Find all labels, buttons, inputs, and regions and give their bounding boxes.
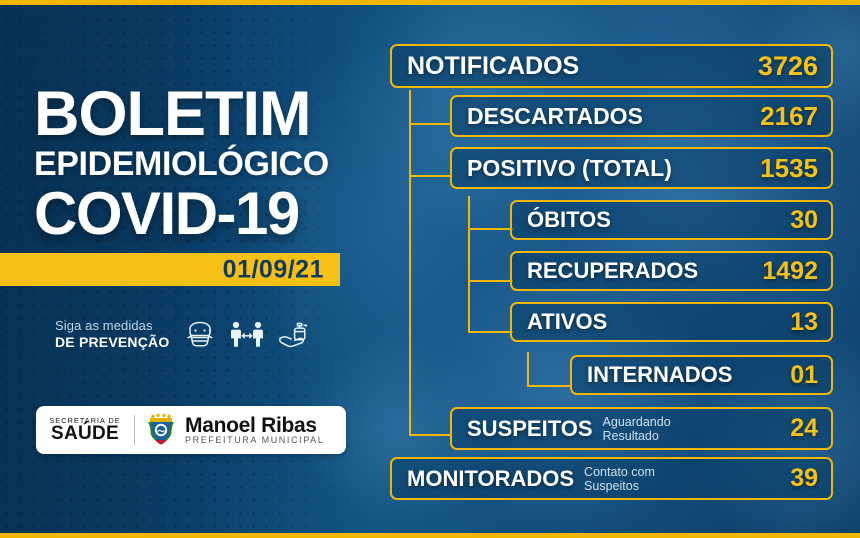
stat-value: 3726 xyxy=(758,51,818,82)
stat-row-ativos[interactable]: ATIVOS 13 xyxy=(510,302,833,342)
stat-row-recuperados[interactable]: RECUPERADOS 1492 xyxy=(510,251,833,291)
stat-value: 13 xyxy=(790,308,818,337)
stat-sublabel: AguardandoResultado xyxy=(603,415,671,443)
stat-label: POSITIVO (TOTAL) xyxy=(467,155,672,182)
stat-row-monitorados[interactable]: MONITORADOS Contato comSuspeitos 39 xyxy=(390,457,833,500)
bulletin-canvas: BOLETIM EPIDEMIOLÓGICO COVID-19 01/09/21… xyxy=(0,0,860,538)
stat-label: INTERNADOS xyxy=(587,362,732,388)
stat-label: ATIVOS xyxy=(527,309,607,335)
stat-value: 1535 xyxy=(760,153,818,184)
stat-value: 24 xyxy=(790,414,818,443)
tree-trunk-line xyxy=(409,90,411,436)
stat-value: 1492 xyxy=(762,257,818,286)
stat-row-positivo-total[interactable]: POSITIVO (TOTAL) 1535 xyxy=(450,147,833,189)
stat-label: RECUPERADOS xyxy=(527,258,698,284)
stat-label: ÓBITOS xyxy=(527,207,611,233)
stat-row-descartados[interactable]: DESCARTADOS 2167 xyxy=(450,95,833,137)
stat-row-internados[interactable]: INTERNADOS 01 xyxy=(570,355,833,395)
stat-label: DESCARTADOS xyxy=(467,103,643,130)
tree-subtrunk-line xyxy=(468,196,470,332)
stat-value: 30 xyxy=(790,206,818,235)
tree-branch-descartados xyxy=(409,123,452,125)
stat-value: 2167 xyxy=(760,101,818,132)
tree-branch-ativos xyxy=(468,331,513,333)
stat-label: MONITORADOS xyxy=(407,466,574,492)
stat-label: SUSPEITOS xyxy=(467,416,593,442)
stat-value: 01 xyxy=(790,361,818,390)
tree-branch-internados xyxy=(527,385,572,387)
stat-row-obitos[interactable]: ÓBITOS 30 xyxy=(510,200,833,240)
stat-value: 39 xyxy=(790,464,818,493)
tree-branch-recuperados xyxy=(468,280,513,282)
stat-row-notificados[interactable]: NOTIFICADOS 3726 xyxy=(390,44,833,88)
tree-branch-suspeitos xyxy=(409,434,452,436)
stat-label: NOTIFICADOS xyxy=(407,52,579,81)
tree-branch-positivo xyxy=(409,175,452,177)
stat-sublabel: Contato comSuspeitos xyxy=(584,465,655,493)
tree-branch-obitos xyxy=(468,228,513,230)
stat-row-suspeitos[interactable]: SUSPEITOS AguardandoResultado 24 xyxy=(450,407,833,450)
tree-subtrunk-internados xyxy=(527,352,529,387)
